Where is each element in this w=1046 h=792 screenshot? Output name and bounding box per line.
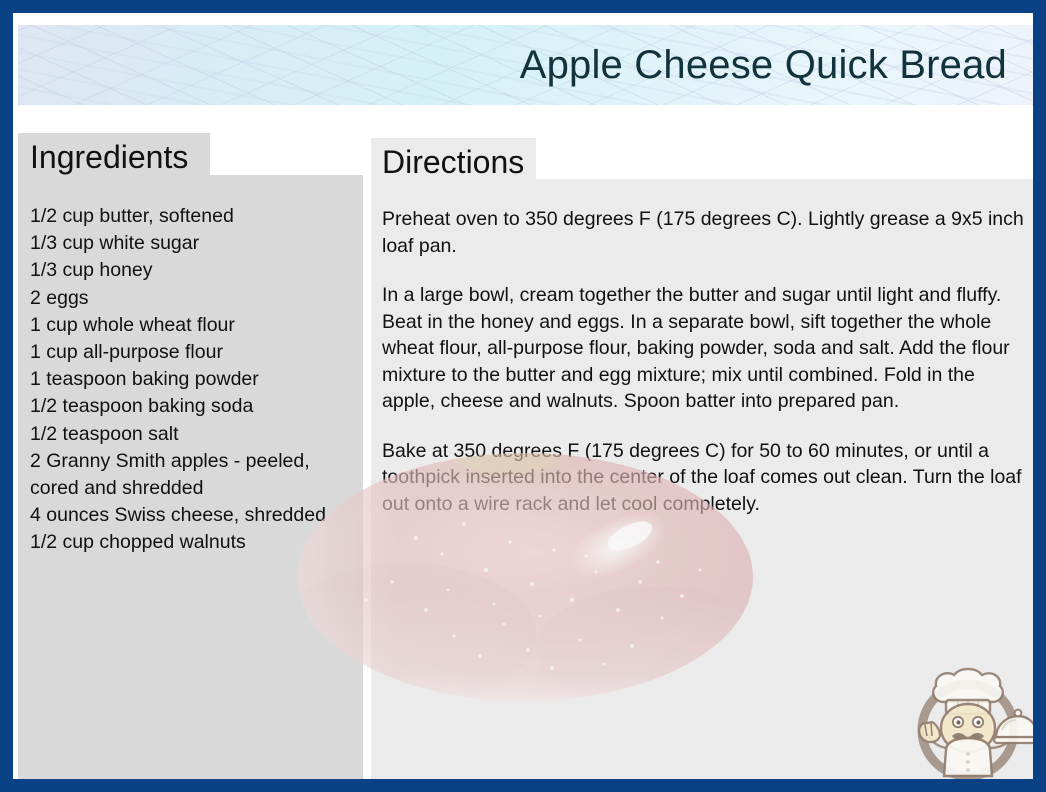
title-banner: Apple Cheese Quick Bread [18,25,1033,105]
list-item: 1/2 cup butter, softened [30,203,359,230]
page-title: Apple Cheese Quick Bread [520,45,1033,85]
directions-heading: Directions [382,146,524,180]
list-item: 1/3 cup white sugar [30,230,359,257]
directions-paragraph: Bake at 350 degrees F (175 degrees C) fo… [382,438,1030,518]
list-item: 1/2 teaspoon salt [30,421,359,448]
directions-paragraph: Preheat oven to 350 degrees F (175 degre… [382,206,1030,259]
ingredients-heading: Ingredients [30,141,188,175]
list-item: 4 ounces Swiss cheese, shredded [30,502,359,529]
list-item: 1/2 cup chopped walnuts [30,529,359,556]
list-item: 1 teaspoon baking powder [30,366,359,393]
ingredients-list: 1/2 cup butter, softened 1/3 cup white s… [30,203,359,557]
ingredients-panel: 1/2 cup butter, softened 1/3 cup white s… [18,175,363,779]
list-item: 1 cup whole wheat flour [30,312,359,339]
list-item: 1/3 cup honey [30,257,359,284]
directions-header-tab: Directions [371,138,536,184]
ingredients-header-tab: Ingredients [18,133,210,179]
directions-panel: Preheat oven to 350 degrees F (175 degre… [371,179,1033,779]
list-item: 1/2 teaspoon baking soda [30,393,359,420]
recipe-card: Apple Cheese Quick Bread Ingredients 1/2… [0,0,1046,792]
directions-paragraph: In a large bowl, cream together the butt… [382,282,1030,415]
list-item: 2 eggs [30,285,359,312]
directions-body: Preheat oven to 350 degrees F (175 degre… [382,206,1030,517]
list-item: 1 cup all-purpose flour [30,339,359,366]
list-item: 2 Granny Smith apples - peeled, cored an… [30,448,359,502]
